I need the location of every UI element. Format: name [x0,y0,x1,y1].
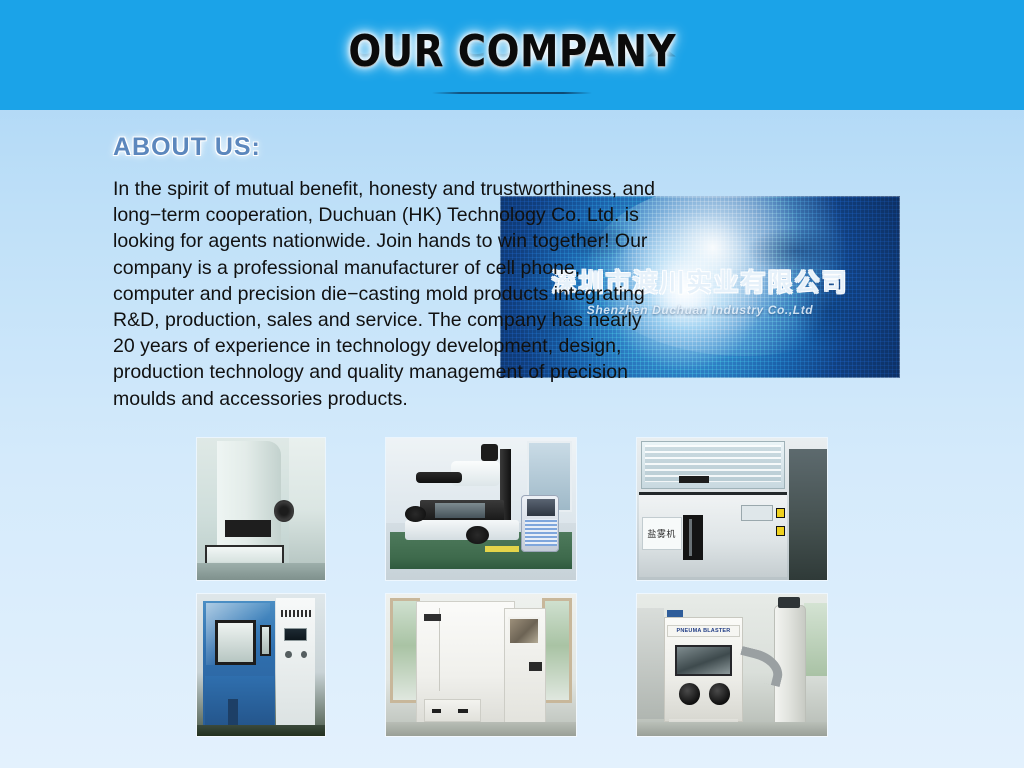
photo-toolmakers-microscope [386,438,576,580]
photo-3-vent [683,515,704,560]
photo-2-left-knob [405,506,426,522]
photo-6-brand-text: PNEUMA BLASTER [667,625,739,636]
photo-3-label-text: 盐雾机 [643,520,681,546]
photo-6-dust-collector-top [778,597,801,608]
photo-3-background-right [789,449,827,580]
equipment-photo-grid: 盐雾机 [0,0,1024,768]
photo-1-optical-arm [225,520,271,537]
photo-2-eyepiece [416,472,462,483]
photo-2-machine-base [405,520,519,540]
photo-5-window-right [542,598,572,703]
photo-4-floor [197,725,325,736]
photo-2-scene [386,438,576,580]
photo-4-panel-button-right [301,651,307,658]
photo-1-lens-head [274,500,294,521]
photo-3-vent-slit [689,519,692,556]
photo-4-scene [197,594,325,736]
photo-2-stage-glass [435,503,484,517]
photo-salt-spray-chamber: 盐雾机 [637,438,827,580]
photo-2-yellow-label [485,546,519,552]
photo-6-floor [637,722,827,736]
photo-5-drawer-handle-left [432,709,442,713]
photo-2-digital-readout-screen [527,499,556,516]
photo-3-lid-bar [679,476,709,483]
photo-6-left-rack [637,608,664,719]
photo-5-floor [386,722,576,736]
photo-3-warning-sticker-top [776,508,786,518]
photo-5-drawer-handle-right [458,709,468,713]
photo-2-digital-readout-keypad [525,519,557,546]
photo-4-control-panel [276,598,314,729]
photo-6-scene: PNEUMA BLASTER [637,594,827,736]
photo-4-skirt-cutout [228,699,238,727]
photo-3-control-sign [742,506,772,520]
photo-4-small-window [260,625,272,656]
photo-sandblasting-cabinet: PNEUMA BLASTER [637,594,827,736]
photo-6-glove-port-left [679,683,700,704]
photo-6-background-window [804,603,827,677]
photo-6-blue-box [667,610,682,617]
photo-1-base [197,563,325,580]
photo-4-panel-title-text [281,610,310,617]
photo-2-top-knob [481,444,498,461]
photo-1-background [289,438,325,580]
photo-4-lower-skirt [205,676,274,727]
photo-2-right-knob [466,526,489,544]
photo-4-panel-button-left [285,651,291,658]
photo-3-lid-ribs [645,445,782,482]
photo-5-scene [386,594,576,736]
photo-6-viewing-window [675,645,732,676]
photo-4-viewing-window [215,620,256,665]
photo-1-scene [197,438,325,580]
photo-5-nameplate [424,614,441,621]
photo-3-warning-sticker-bottom [776,526,786,536]
photo-vision-measuring-machine [197,438,325,580]
photo-5-small-panel [529,662,542,671]
photo-4-digital-display [284,628,307,641]
photo-3-scene: 盐雾机 [637,438,827,580]
photo-industrial-white-machine [386,594,576,736]
photo-temperature-humidity-chamber [197,594,325,736]
photo-5-inspection-window [508,617,540,645]
photo-6-glove-port-right [709,683,730,704]
